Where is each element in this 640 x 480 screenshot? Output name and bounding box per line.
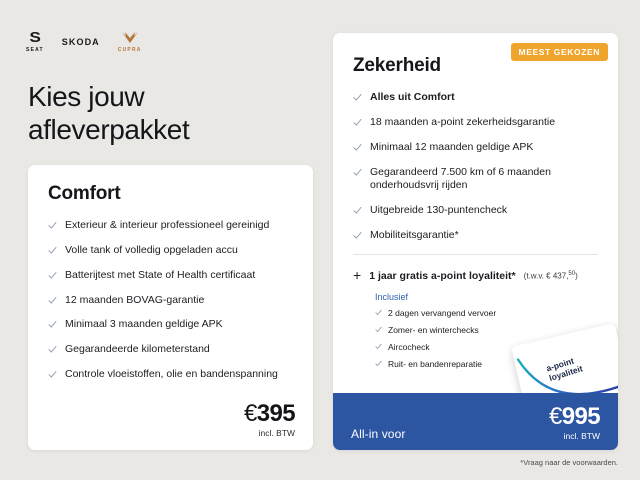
check-icon [353, 206, 362, 215]
cupra-tribal-icon [121, 31, 139, 44]
zekerheid-body: MEEST GEKOZEN Zekerheid Alles uit Comfor… [333, 33, 618, 370]
list-item: Uitgebreide 130-puntencheck [353, 204, 598, 218]
zekerheid-feature-text: Gegarandeerd 7.500 km of 6 maanden onder… [370, 166, 598, 194]
list-item: Gegarandeerde kilometerstand [48, 343, 293, 357]
loyalty-title: 1 jaar gratis a-point loyaliteit* [369, 270, 515, 282]
included-item-text: Aircocheck [388, 342, 430, 353]
check-icon [353, 231, 362, 240]
skoda-logo: SKODA [62, 37, 100, 47]
comfort-feature-text: Minimaal 3 maanden geldige APK [65, 318, 223, 332]
list-item: 12 maanden BOVAG-garantie [48, 294, 293, 308]
list-item: Gegarandeerd 7.500 km of 6 maanden onder… [353, 166, 598, 194]
list-item: Minimaal 3 maanden geldige APK [48, 318, 293, 332]
zekerheid-feature-text: 18 maanden a-point zekerheidsgarantie [370, 116, 555, 130]
comfort-price-block: €395 incl. BTW [244, 402, 295, 438]
included-item-text: Zomer- en winterchecks [388, 325, 479, 336]
loyalty-value: (t.w.v. € 437,50) [524, 271, 578, 281]
zekerheid-price: €995 [549, 405, 600, 429]
zekerheid-feature-text: Minimaal 12 maanden geldige APK [370, 141, 533, 155]
comfort-price-amount: 395 [257, 400, 295, 427]
loyalty-value-main: (t.w.v. € 437, [524, 272, 569, 281]
check-icon [48, 221, 57, 230]
list-item: 2 dagen vervangend vervoer [375, 308, 598, 319]
cupra-logo-mark [121, 31, 139, 46]
page-title: Kies jouw afleverpakket [28, 80, 298, 146]
check-icon [375, 326, 382, 333]
check-icon [375, 343, 382, 350]
zekerheid-feature-text: Mobiliteitsgarantie* [370, 229, 459, 243]
seat-logo-wordmark: SEAT [26, 47, 44, 53]
comfort-feature-text: Batterijtest met State of Health certifi… [65, 269, 255, 283]
loyalty-headline-row: + 1 jaar gratis a-point loyaliteit* (t.w… [353, 267, 598, 282]
plus-icon: + [353, 268, 361, 282]
allin-label: All-in voor [351, 427, 405, 441]
check-icon [353, 118, 362, 127]
brand-logo-bar: S SEAT SKODA CUPRA [26, 30, 142, 53]
comfort-title: Comfort [48, 183, 293, 205]
check-icon [353, 143, 362, 152]
check-icon [375, 360, 382, 367]
status-badge: MEEST GEKOZEN [511, 43, 608, 61]
comfort-feature-text: Gegarandeerde kilometerstand [65, 343, 210, 357]
zekerheid-feature-text: Alles uit Comfort [370, 91, 455, 105]
check-icon [48, 370, 57, 379]
included-label: Inclusief [375, 292, 598, 302]
check-icon [48, 345, 57, 354]
list-item: Batterijtest met State of Health certifi… [48, 269, 293, 283]
check-icon [48, 246, 57, 255]
section-divider [353, 254, 598, 255]
check-icon [353, 168, 362, 177]
footnote-text: *Vraag naar de voorwaarden. [520, 458, 618, 467]
zekerheid-price-amount: 995 [562, 403, 600, 430]
list-item: 18 maanden a-point zekerheidsgarantie [353, 116, 598, 130]
list-item: Alles uit Comfort [353, 91, 598, 105]
seat-logo-mark: S [30, 30, 40, 45]
currency-symbol: € [244, 400, 257, 427]
check-icon [48, 271, 57, 280]
zekerheid-price-footer: All-in voor €995 incl. BTW [333, 393, 618, 450]
comfort-feature-text: Exterieur & interieur professioneel gere… [65, 219, 269, 233]
list-item: Volle tank of volledig opgeladen accu [48, 244, 293, 258]
cupra-logo: CUPRA [118, 31, 142, 53]
check-icon [375, 309, 382, 316]
package-card-zekerheid[interactable]: MEEST GEKOZEN Zekerheid Alles uit Comfor… [333, 33, 618, 450]
check-icon [48, 320, 57, 329]
comfort-feature-text: 12 maanden BOVAG-garantie [65, 294, 204, 308]
list-item: Exterieur & interieur professioneel gere… [48, 219, 293, 233]
zekerheid-price-block: €995 incl. BTW [549, 405, 600, 441]
zekerheid-price-note: incl. BTW [549, 431, 600, 441]
list-item: Controle vloeistoffen, olie en bandenspa… [48, 368, 293, 382]
check-icon [353, 93, 362, 102]
package-card-comfort[interactable]: Comfort Exterieur & interieur profession… [28, 165, 313, 450]
comfort-feature-list: Exterieur & interieur professioneel gere… [48, 219, 293, 382]
seat-logo: S SEAT [26, 30, 44, 53]
delivery-package-page: S SEAT SKODA CUPRA Kies jouw afleverpakk… [0, 0, 640, 480]
comfort-feature-text: Controle vloeistoffen, olie en bandenspa… [65, 368, 278, 382]
currency-symbol: € [549, 403, 562, 430]
included-item-text: 2 dagen vervangend vervoer [388, 308, 496, 319]
price-row: All-in voor €995 incl. BTW [351, 405, 600, 441]
comfort-price-note: incl. BTW [244, 428, 295, 438]
list-item: Mobiliteitsgarantie* [353, 229, 598, 243]
list-item: Minimaal 12 maanden geldige APK [353, 141, 598, 155]
check-icon [48, 296, 57, 305]
comfort-feature-text: Volle tank of volledig opgeladen accu [65, 244, 238, 258]
zekerheid-feature-text: Uitgebreide 130-puntencheck [370, 204, 507, 218]
comfort-price: €395 [244, 402, 295, 426]
included-item-text: Ruit- en bandenreparatie [388, 359, 482, 370]
cupra-logo-wordmark: CUPRA [118, 47, 142, 53]
loyalty-value-end: ) [575, 272, 578, 281]
skoda-logo-wordmark: SKODA [62, 37, 100, 47]
zekerheid-feature-list: Alles uit Comfort 18 maanden a-point zek… [353, 91, 598, 243]
